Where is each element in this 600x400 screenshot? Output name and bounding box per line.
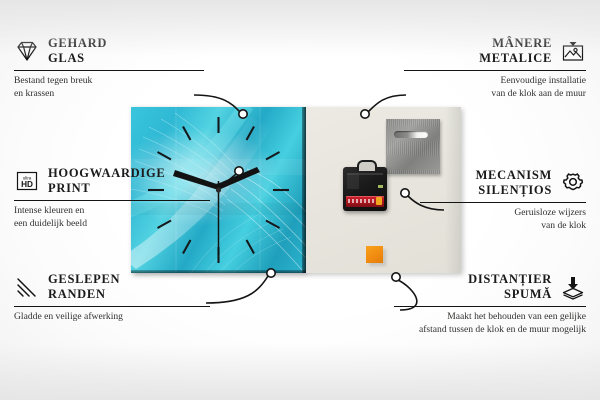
metal-hanger-plate-photo (386, 119, 440, 174)
callout-handles-rule (404, 70, 586, 71)
callout-spacer: DISTANȚIER SPUMĂ Maakt het behouden van … (394, 272, 586, 336)
callout-print-header: ultra HD HOOGWAARDIGE PRINT (14, 166, 210, 196)
bevelled-edges-icon (14, 274, 40, 300)
callout-edges-rule (14, 306, 210, 307)
battery (346, 196, 384, 207)
gear-icon (560, 170, 586, 196)
callout-print: ultra HD HOOGWAARDIGE PRINT Intense kleu… (14, 166, 210, 230)
callout-edges: GESLEPEN RANDEN Gladde en veilige afwerk… (14, 272, 210, 324)
callout-spacer-header: DISTANȚIER SPUMĂ (394, 272, 586, 302)
callout-mechanism-rule (420, 202, 586, 203)
callout-spacer-title: DISTANȚIER SPUMĂ (468, 272, 552, 302)
infographic-canvas: GEHARD GLAS Bestand tegen breuk en krass… (0, 0, 600, 400)
callout-glass-rule (14, 70, 204, 71)
callout-edges-header: GESLEPEN RANDEN (14, 272, 210, 302)
callout-edges-description: Gladde en veilige afwerking (14, 311, 210, 323)
callout-print-title: HOOGWAARDIGE PRINT (48, 166, 165, 196)
svg-text:HD: HD (21, 180, 33, 189)
keyhole-slot (394, 131, 428, 138)
callout-spacer-description: Maakt het behouden van een gelijke afsta… (394, 311, 586, 336)
callout-glass-title: GEHARD GLAS (48, 36, 107, 66)
callout-handles-title: MÂNERE METALICE (479, 36, 552, 66)
callout-print-rule (14, 200, 210, 201)
hand-hub (216, 187, 221, 192)
callout-edges-title: GESLEPEN RANDEN (48, 272, 120, 302)
callout-handles-header: MÂNERE METALICE (404, 36, 586, 66)
callout-mechanism-title: MECANISM SILENȚIOS (476, 168, 552, 198)
leader-edges (206, 276, 268, 303)
battery-terminal (376, 197, 382, 205)
diamond-icon (14, 38, 40, 64)
quartz-mechanism-photo (343, 167, 387, 211)
callout-glass-header: GEHARD GLAS (14, 36, 204, 66)
mechanism-hook (357, 160, 377, 171)
callout-spacer-rule (394, 306, 586, 307)
foam-spacer-photo (366, 246, 383, 263)
callout-glass: GEHARD GLAS Bestand tegen breuk en krass… (14, 36, 204, 100)
callout-mechanism-description: Geruisloze wijzers van de klok (420, 207, 586, 232)
ultra-hd-icon: ultra HD (14, 168, 40, 194)
callout-handles: MÂNERE METALICE Eenvoudige installatie v… (404, 36, 586, 100)
mechanism-led (378, 185, 383, 188)
battery-label (348, 199, 374, 203)
callout-print-description: Intense kleuren en een duidelijk beeld (14, 205, 210, 230)
callout-glass-description: Bestand tegen breuk en krassen (14, 75, 204, 100)
callout-mechanism-header: MECANISM SILENȚIOS (420, 168, 586, 198)
spacer-stack-icon (560, 274, 586, 300)
callout-handles-description: Eenvoudige installatie van de klok aan d… (404, 75, 586, 100)
callout-mechanism: MECANISM SILENȚIOS Geruisloze wijzers va… (420, 168, 586, 232)
framed-picture-icon (560, 38, 586, 64)
hour-hand (215, 167, 260, 190)
